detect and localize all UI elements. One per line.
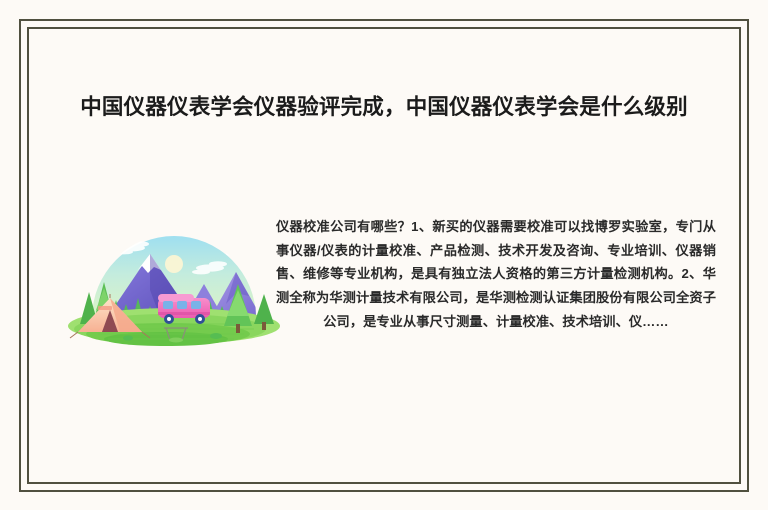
page-title: 中国仪器仪表学会仪器验评完成，中国仪器仪表学会是什么级别: [62, 90, 706, 124]
sun-icon: [165, 255, 183, 273]
article-page: 中国仪器仪表学会仪器验评完成，中国仪器仪表学会是什么级别: [0, 0, 768, 510]
article-content: 仪器校准公司有哪些？1、新买的仪器需要校准可以找博罗实验室，专门从事仪器/仪表的…: [36, 190, 732, 420]
camping-scene-illustration: [58, 198, 290, 350]
van-window: [163, 301, 201, 309]
article-body-text: 仪器校准公司有哪些？1、新买的仪器需要校准可以找博罗实验室，专门从事仪器/仪表的…: [276, 215, 716, 333]
cloud-icon: [226, 249, 248, 257]
